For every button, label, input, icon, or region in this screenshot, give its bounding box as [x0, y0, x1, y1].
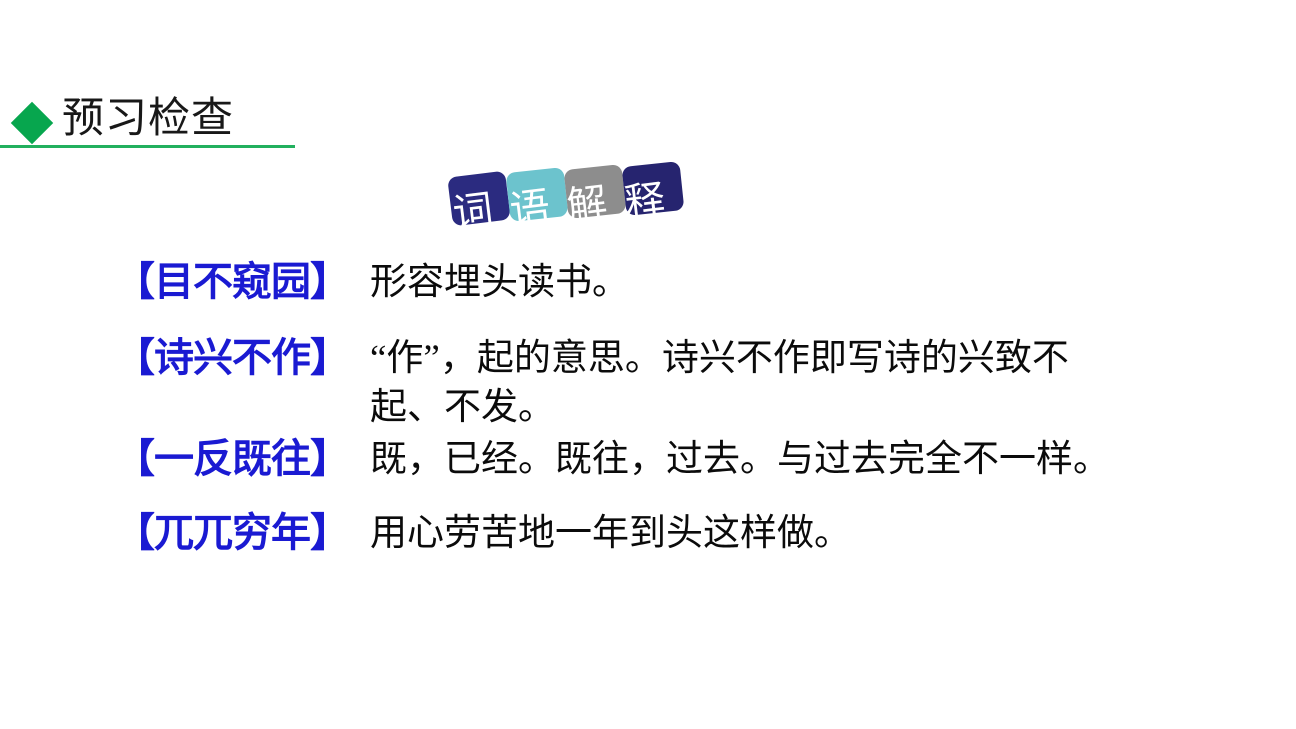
definition-line: “作”，起的意思。诗兴不作即写诗的兴致不	[370, 334, 1275, 383]
definition-term: 【一反既往】	[115, 435, 360, 483]
definition-line: 形容埋头读书。	[370, 258, 1275, 307]
definition-body: 既，已经。既往，过去。与过去完全不一样。	[370, 435, 1275, 484]
banner-char-2: 语	[508, 187, 553, 232]
slide-heading: 预习检查	[0, 92, 300, 150]
definition-body: “作”，起的意思。诗兴不作即写诗的兴致不 起、不发。	[370, 334, 1275, 432]
definition-term: 【目不窥园】	[115, 258, 360, 306]
heading-underline-rule	[0, 145, 295, 148]
banner-char-4: 释	[623, 180, 668, 225]
definition-body: 形容埋头读书。	[370, 258, 1275, 307]
banner-char-1: 词	[451, 190, 496, 235]
definition-term: 【兀兀穷年】	[115, 509, 360, 557]
page-title: 预习检查	[62, 92, 234, 144]
definition-term: 【诗兴不作】	[115, 334, 360, 382]
definition-body: 用心劳苦地一年到头这样做。	[370, 509, 1275, 558]
green-diamond-icon	[11, 102, 53, 144]
banner-char-3: 解	[565, 183, 610, 228]
definition-line: 既，已经。既往，过去。与过去完全不一样。	[370, 435, 1275, 484]
definition-line: 起、不发。	[370, 383, 1275, 432]
definition-line: 用心劳苦地一年到头这样做。	[370, 509, 1275, 558]
section-banner: 词 语 解 释	[445, 164, 701, 240]
